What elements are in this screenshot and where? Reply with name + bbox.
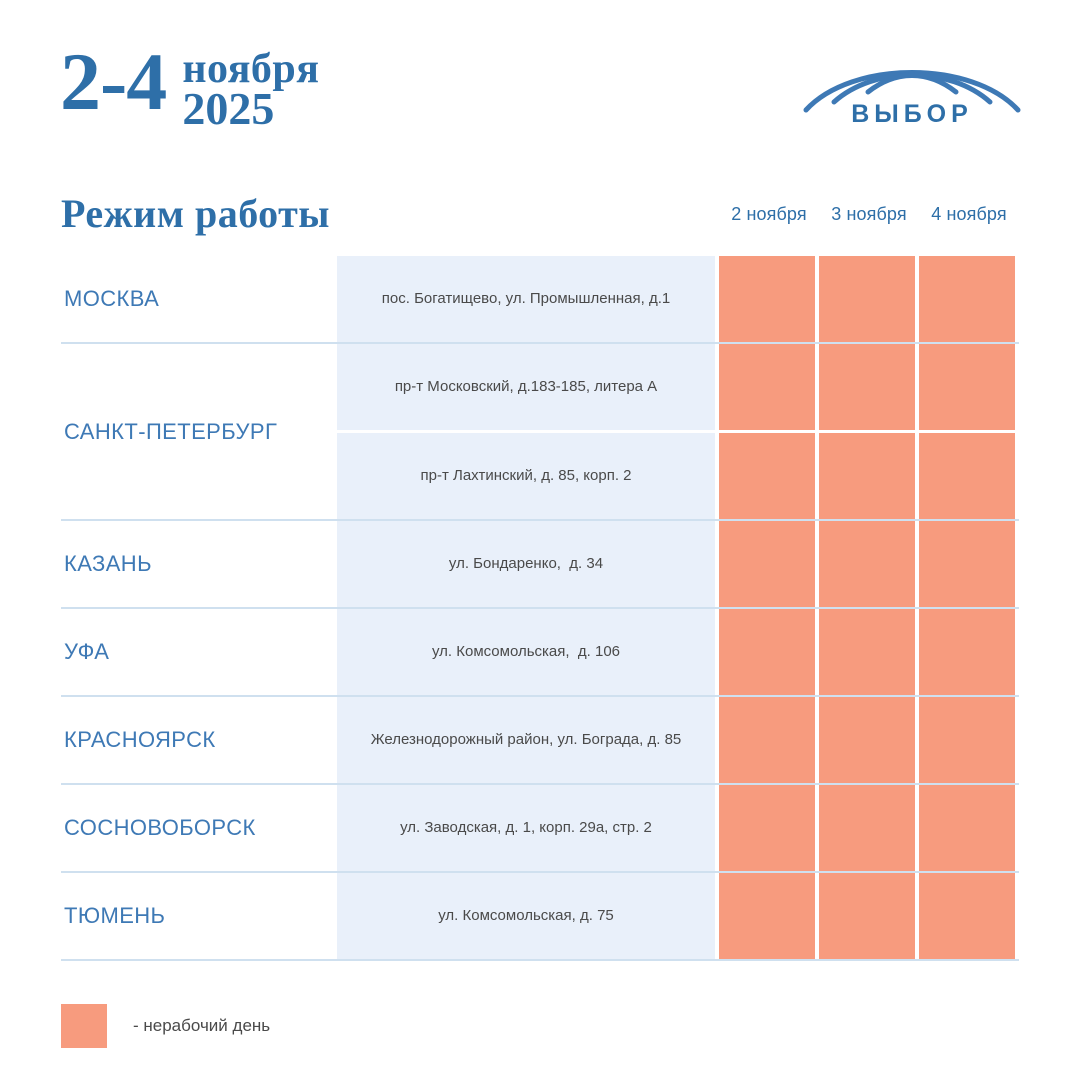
day-status-cell-3 [919, 785, 1015, 871]
day-status-cell-3 [919, 433, 1015, 519]
address-rows: ул. Бондаренко, д. 34 [337, 521, 1019, 607]
day-header-group: 2 ноября 3 ноября 4 ноября [719, 204, 1019, 225]
address-cell: ул. Заводская, д. 1, корп. 29а, стр. 2 [337, 785, 715, 871]
address-cell: пр-т Лахтинский, д. 85, корп. 2 [337, 433, 715, 519]
address-cell: ул. Комсомольская, д. 75 [337, 873, 715, 959]
city-block: УФАул. Комсомольская, д. 106 [61, 609, 1019, 697]
address-cell: пос. Богатищево, ул. Промышленная, д.1 [337, 256, 715, 342]
title-row: Режим работы 2 ноября 3 ноября 4 ноября [0, 190, 1080, 246]
address-rows: пос. Богатищево, ул. Промышленная, д.1 [337, 256, 1019, 342]
address-rows: ул. Комсомольская, д. 75 [337, 873, 1019, 959]
table-row: ул. Комсомольская, д. 75 [337, 873, 1019, 959]
table-row: пос. Богатищево, ул. Промышленная, д.1 [337, 256, 1019, 342]
day-status-cell-2 [819, 256, 915, 342]
table-row: ул. Заводская, д. 1, корп. 29а, стр. 2 [337, 785, 1019, 871]
city-cell: КАЗАНЬ [61, 521, 337, 607]
city-block: КАЗАНЬул. Бондаренко, д. 34 [61, 521, 1019, 609]
page-header: 2-4 ноября 2025 ВЫБОР [0, 0, 1080, 170]
legend-swatch-nonworking [61, 1004, 107, 1048]
day-status-cell-3 [919, 344, 1015, 430]
event-date-range: 2-4 [60, 42, 166, 122]
city-block: САНКТ-ПЕТЕРБУРГпр-т Московский, д.183-18… [61, 344, 1019, 521]
day-status-cell-2 [819, 521, 915, 607]
address-text: ул. Комсомольская, д. 75 [438, 906, 614, 926]
day-status-cell-2 [819, 433, 915, 519]
day-status-cell-2 [819, 344, 915, 430]
event-date-block: 2-4 ноября 2025 [60, 42, 320, 132]
day-header-1: 2 ноября [719, 204, 819, 225]
company-logo: ВЫБОР [802, 44, 1022, 130]
day-status-cell-1 [719, 344, 815, 430]
day-status-cell-2 [819, 609, 915, 695]
address-rows: ул. Комсомольская, д. 106 [337, 609, 1019, 695]
table-row: пр-т Московский, д.183-185, литера А [337, 344, 1019, 430]
day-status-cells [719, 697, 1019, 783]
day-status-cell-1 [719, 256, 815, 342]
address-text: ул. Комсомольская, д. 106 [432, 642, 620, 662]
day-status-cell-3 [919, 256, 1015, 342]
table-row: пр-т Лахтинский, д. 85, корп. 2 [337, 433, 1019, 519]
event-year: 2025 [182, 86, 319, 132]
day-status-cells [719, 433, 1019, 519]
city-cell: СОСНОВОБОРСК [61, 785, 337, 871]
city-block: КРАСНОЯРСКЖелезнодорожный район, ул. Бог… [61, 697, 1019, 785]
day-status-cell-2 [819, 785, 915, 871]
address-text: пос. Богатищево, ул. Промышленная, д.1 [382, 289, 670, 309]
day-status-cells [719, 521, 1019, 607]
city-block: ТЮМЕНЬул. Комсомольская, д. 75 [61, 873, 1019, 961]
address-cell: ул. Бондаренко, д. 34 [337, 521, 715, 607]
city-cell: ТЮМЕНЬ [61, 873, 337, 959]
day-status-cell-3 [919, 697, 1015, 783]
city-name: СОСНОВОБОРСК [64, 815, 256, 841]
address-cell: ул. Комсомольская, д. 106 [337, 609, 715, 695]
city-name: МОСКВА [64, 286, 159, 312]
legend: - нерабочий день [61, 1004, 270, 1048]
day-header-2: 3 ноября [819, 204, 919, 225]
day-status-cell-1 [719, 609, 815, 695]
city-block: МОСКВАпос. Богатищево, ул. Промышленная,… [61, 256, 1019, 344]
address-text: пр-т Лахтинский, д. 85, корп. 2 [420, 466, 631, 486]
day-status-cells [719, 256, 1019, 342]
day-header-3: 4 ноября [919, 204, 1019, 225]
day-status-cell-2 [819, 697, 915, 783]
logo-wordmark: ВЫБОР [802, 100, 1022, 129]
day-status-cells [719, 344, 1019, 430]
city-name: КРАСНОЯРСК [64, 727, 216, 753]
day-status-cell-3 [919, 521, 1015, 607]
day-status-cell-1 [719, 873, 815, 959]
day-status-cells [719, 609, 1019, 695]
day-status-cell-1 [719, 697, 815, 783]
address-text: ул. Бондаренко, д. 34 [449, 554, 603, 574]
day-status-cell-2 [819, 873, 915, 959]
legend-label-nonworking: - нерабочий день [133, 1016, 270, 1036]
day-status-cell-1 [719, 433, 815, 519]
city-name: САНКТ-ПЕТЕРБУРГ [64, 419, 277, 445]
address-cell: Железнодорожный район, ул. Бограда, д. 8… [337, 697, 715, 783]
event-date-month-year: ноября 2025 [182, 48, 319, 132]
table-row: ул. Бондаренко, д. 34 [337, 521, 1019, 607]
day-status-cells [719, 873, 1019, 959]
city-cell: САНКТ-ПЕТЕРБУРГ [61, 344, 337, 519]
city-cell: КРАСНОЯРСК [61, 697, 337, 783]
day-status-cell-3 [919, 609, 1015, 695]
table-row: Железнодорожный район, ул. Бограда, д. 8… [337, 697, 1019, 783]
address-text: пр-т Московский, д.183-185, литера А [395, 377, 657, 397]
city-block: СОСНОВОБОРСКул. Заводская, д. 1, корп. 2… [61, 785, 1019, 873]
address-text: ул. Заводская, д. 1, корп. 29а, стр. 2 [400, 818, 652, 838]
table-row: ул. Комсомольская, д. 106 [337, 609, 1019, 695]
day-status-cell-1 [719, 785, 815, 871]
city-name: ТЮМЕНЬ [64, 903, 165, 929]
address-rows: Железнодорожный район, ул. Бограда, д. 8… [337, 697, 1019, 783]
address-text: Железнодорожный район, ул. Бограда, д. 8… [371, 730, 682, 750]
address-rows: ул. Заводская, д. 1, корп. 29а, стр. 2 [337, 785, 1019, 871]
city-name: КАЗАНЬ [64, 551, 152, 577]
day-status-cell-1 [719, 521, 815, 607]
schedule-table: МОСКВАпос. Богатищево, ул. Промышленная,… [61, 256, 1019, 961]
city-cell: МОСКВА [61, 256, 337, 342]
page-title: Режим работы [61, 190, 330, 237]
day-status-cell-3 [919, 873, 1015, 959]
day-status-cells [719, 785, 1019, 871]
city-name: УФА [64, 639, 109, 665]
address-rows: пр-т Московский, д.183-185, литера Апр-т… [337, 344, 1019, 519]
city-cell: УФА [61, 609, 337, 695]
address-cell: пр-т Московский, д.183-185, литера А [337, 344, 715, 430]
